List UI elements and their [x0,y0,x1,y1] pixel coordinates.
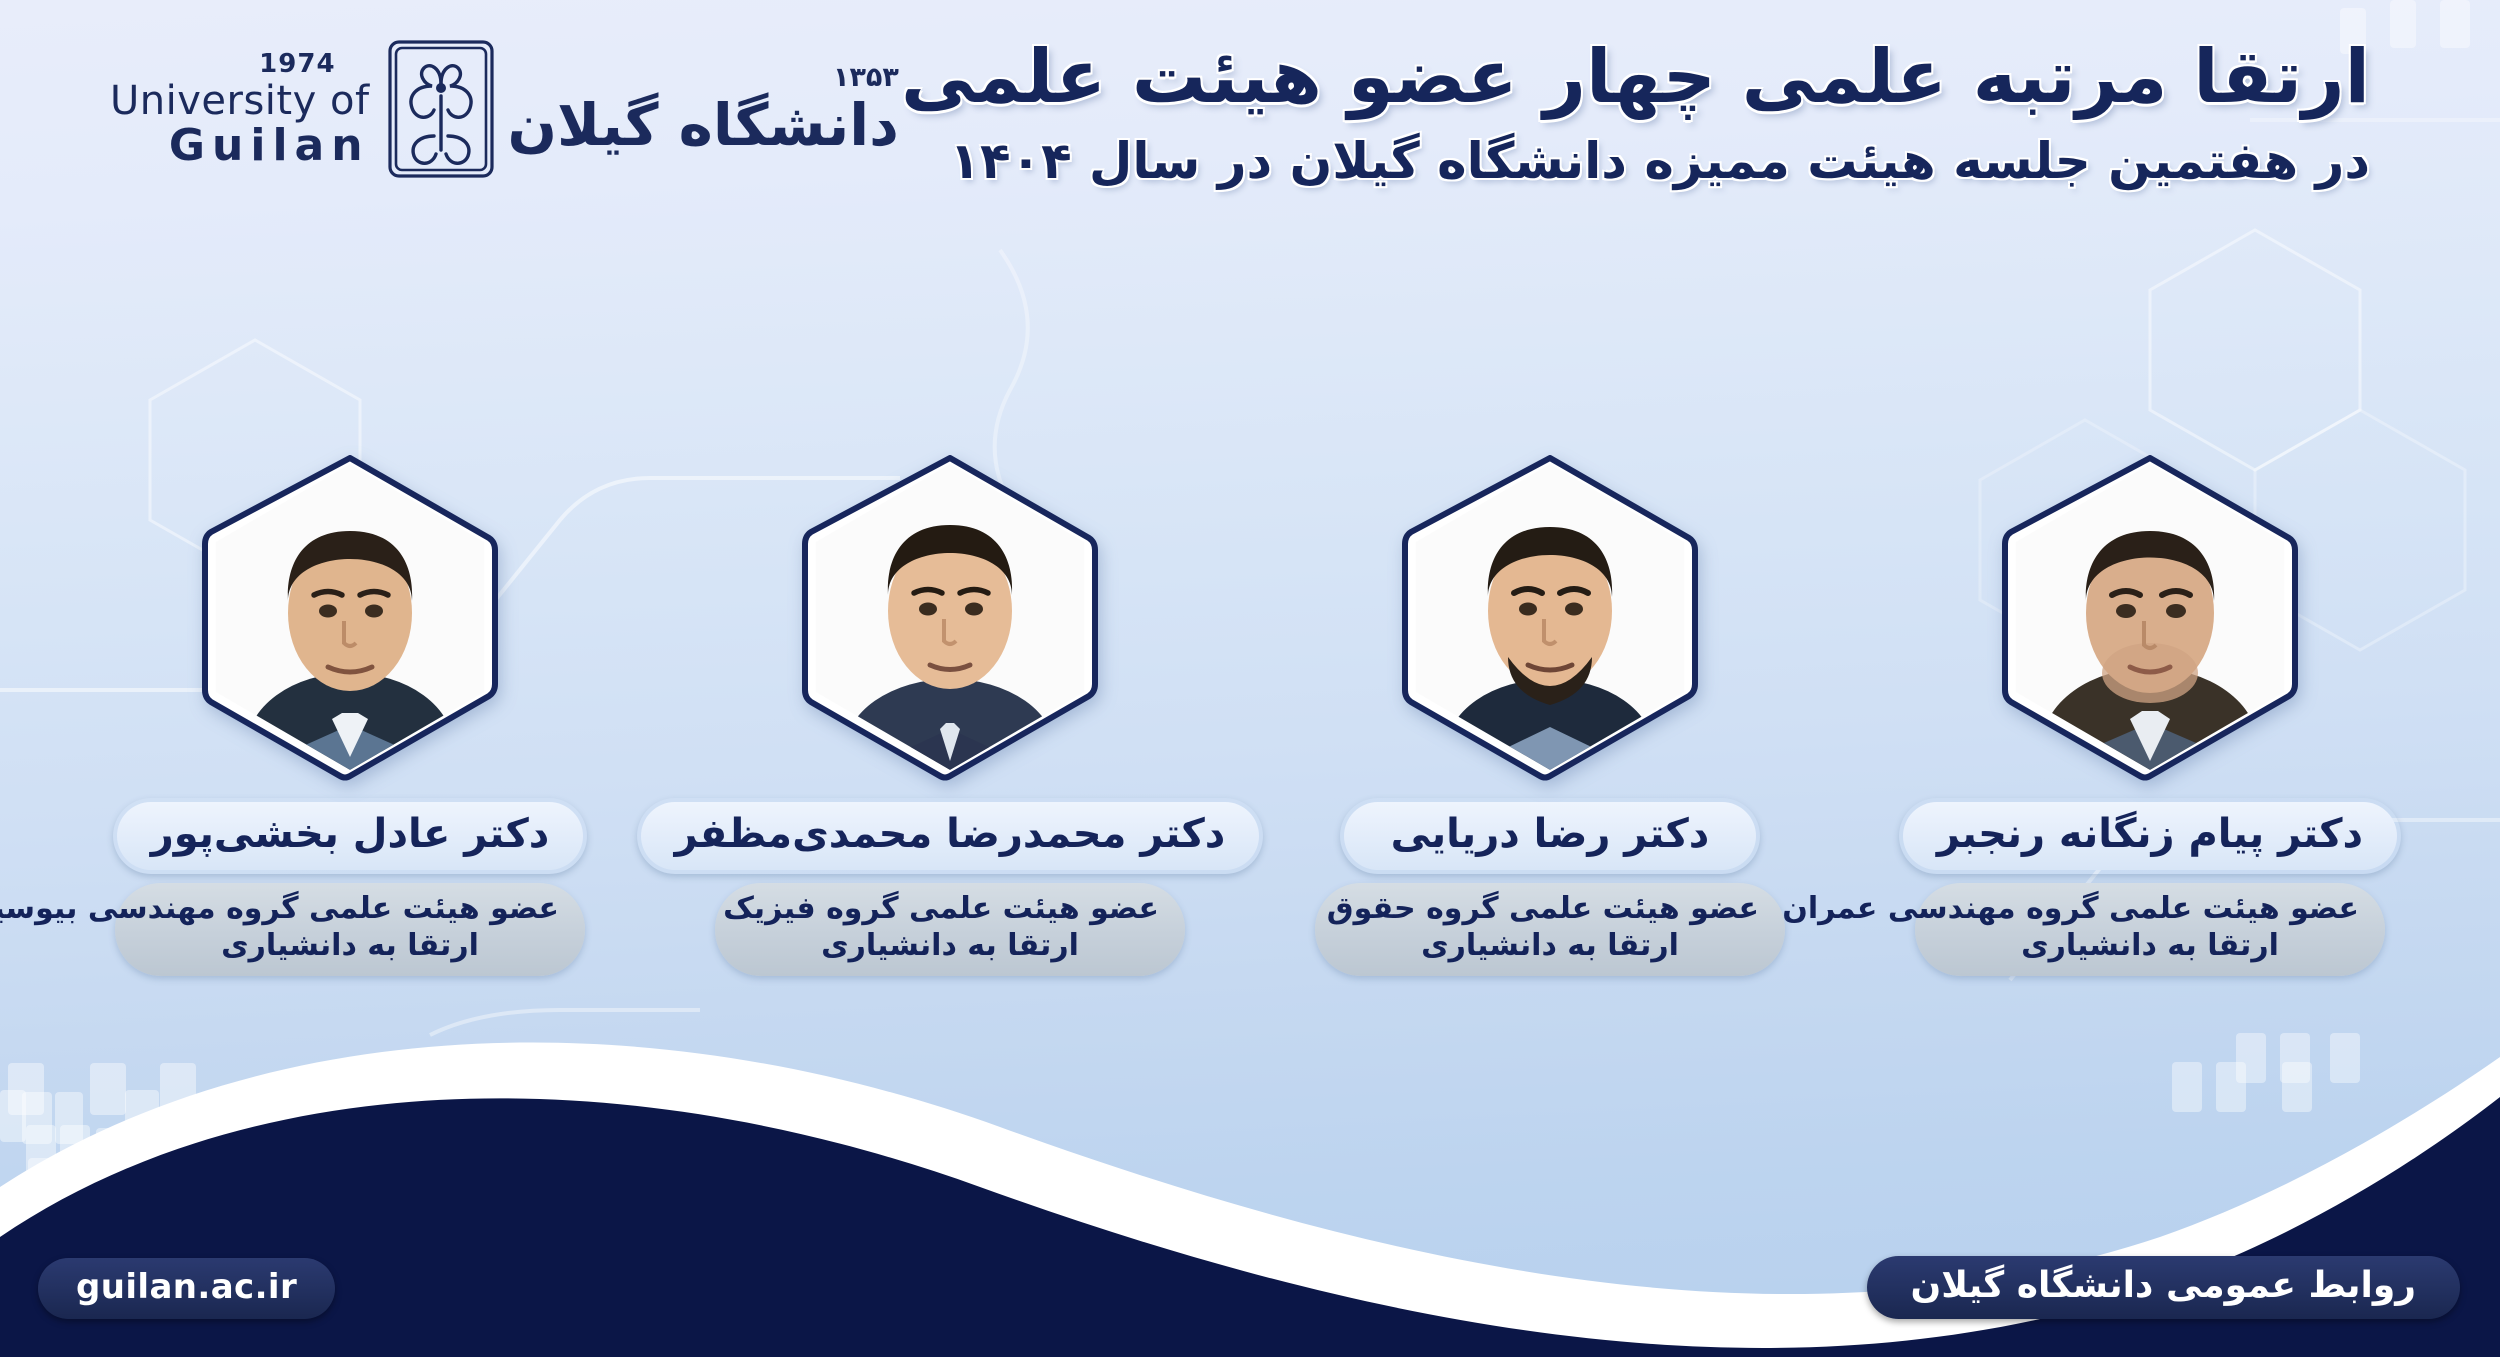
website-url: guilan.ac.ir [76,1267,297,1307]
faculty-card: دکتر محمدرضا محمدی‌مظفر عضو هیئت علمی گر… [650,452,1250,976]
faculty-list: دکتر پیام زنگانه رنجبر عضو هیئت علمی گرو… [0,452,2500,976]
logo-line1-en: University of [110,81,370,121]
faculty-department: عضو هیئت علمی گروه مهندسی عمران [1941,891,2359,928]
logo-english-text: 1974 University of Guilan [110,51,370,168]
logo-name-fa: دانشگاه گیلان [508,95,899,156]
public-relations-badge: روابط عمومی دانشگاه گیلان [1867,1256,2460,1319]
faculty-name-pill: دکتر عادل بخشی‌پور [113,798,588,874]
guilan-university-emblem-icon [386,38,496,180]
faculty-name: دکتر عادل بخشی‌پور [151,811,550,857]
faculty-name-pill: دکتر رضا دریایی [1340,798,1760,874]
faculty-name: دکتر محمدرضا محمدی‌مظفر [675,811,1226,857]
logo-line2-en: Guilan [169,124,370,168]
faculty-card: دکتر عادل بخشی‌پور عضو هیئت علمی گروه مه… [50,452,650,976]
portrait-frame [195,452,505,782]
logo-persian-text: ۱۳۵۳ دانشگاه گیلان [508,62,899,156]
faculty-name-pill: دکتر محمدرضا محمدی‌مظفر [637,798,1264,874]
website-badge[interactable]: guilan.ac.ir [38,1258,335,1319]
portrait-frame [795,452,1105,782]
logo-year-en: 1974 [259,51,335,77]
faculty-name-pill: دکتر پیام زنگانه رنجبر [1899,798,2401,874]
faculty-card: دکتر پیام زنگانه رنجبر عضو هیئت علمی گرو… [1850,452,2450,976]
faculty-department: عضو هیئت علمی گروه فیزیک [741,891,1159,928]
faculty-department: عضو هیئت علمی گروه حقوق [1341,891,1759,928]
portrait-frame [1995,452,2305,782]
faculty-name: دکتر رضا دریایی [1391,811,1710,857]
poster-canvas: 1974 University of Guilan ۱۳۵۳ دانشگاه [0,0,2500,1357]
faculty-department: عضو هیئت علمی گروه مهندسی بیوسیستم [141,891,559,928]
page-title: ارتقا مرتبه علمی چهار عضو هیئت علمی [901,34,2370,121]
faculty-name: دکتر پیام زنگانه رنجبر [1937,811,2363,857]
title-block: ارتقا مرتبه علمی چهار عضو هیئت علمی در ه… [901,34,2370,191]
public-relations-label: روابط عمومی دانشگاه گیلان [1911,1265,2416,1306]
portrait-frame [1395,452,1705,782]
university-logo: 1974 University of Guilan ۱۳۵۳ دانشگاه [110,38,899,180]
logo-year-fa: ۱۳۵۳ [833,62,899,93]
poster-header: 1974 University of Guilan ۱۳۵۳ دانشگاه [0,0,2500,230]
faculty-card: دکتر رضا دریایی عضو هیئت علمی گروه حقوق … [1250,452,1850,976]
page-subtitle: در هفتمین جلسه هیئت ممیزه دانشگاه گیلان … [901,131,2370,191]
